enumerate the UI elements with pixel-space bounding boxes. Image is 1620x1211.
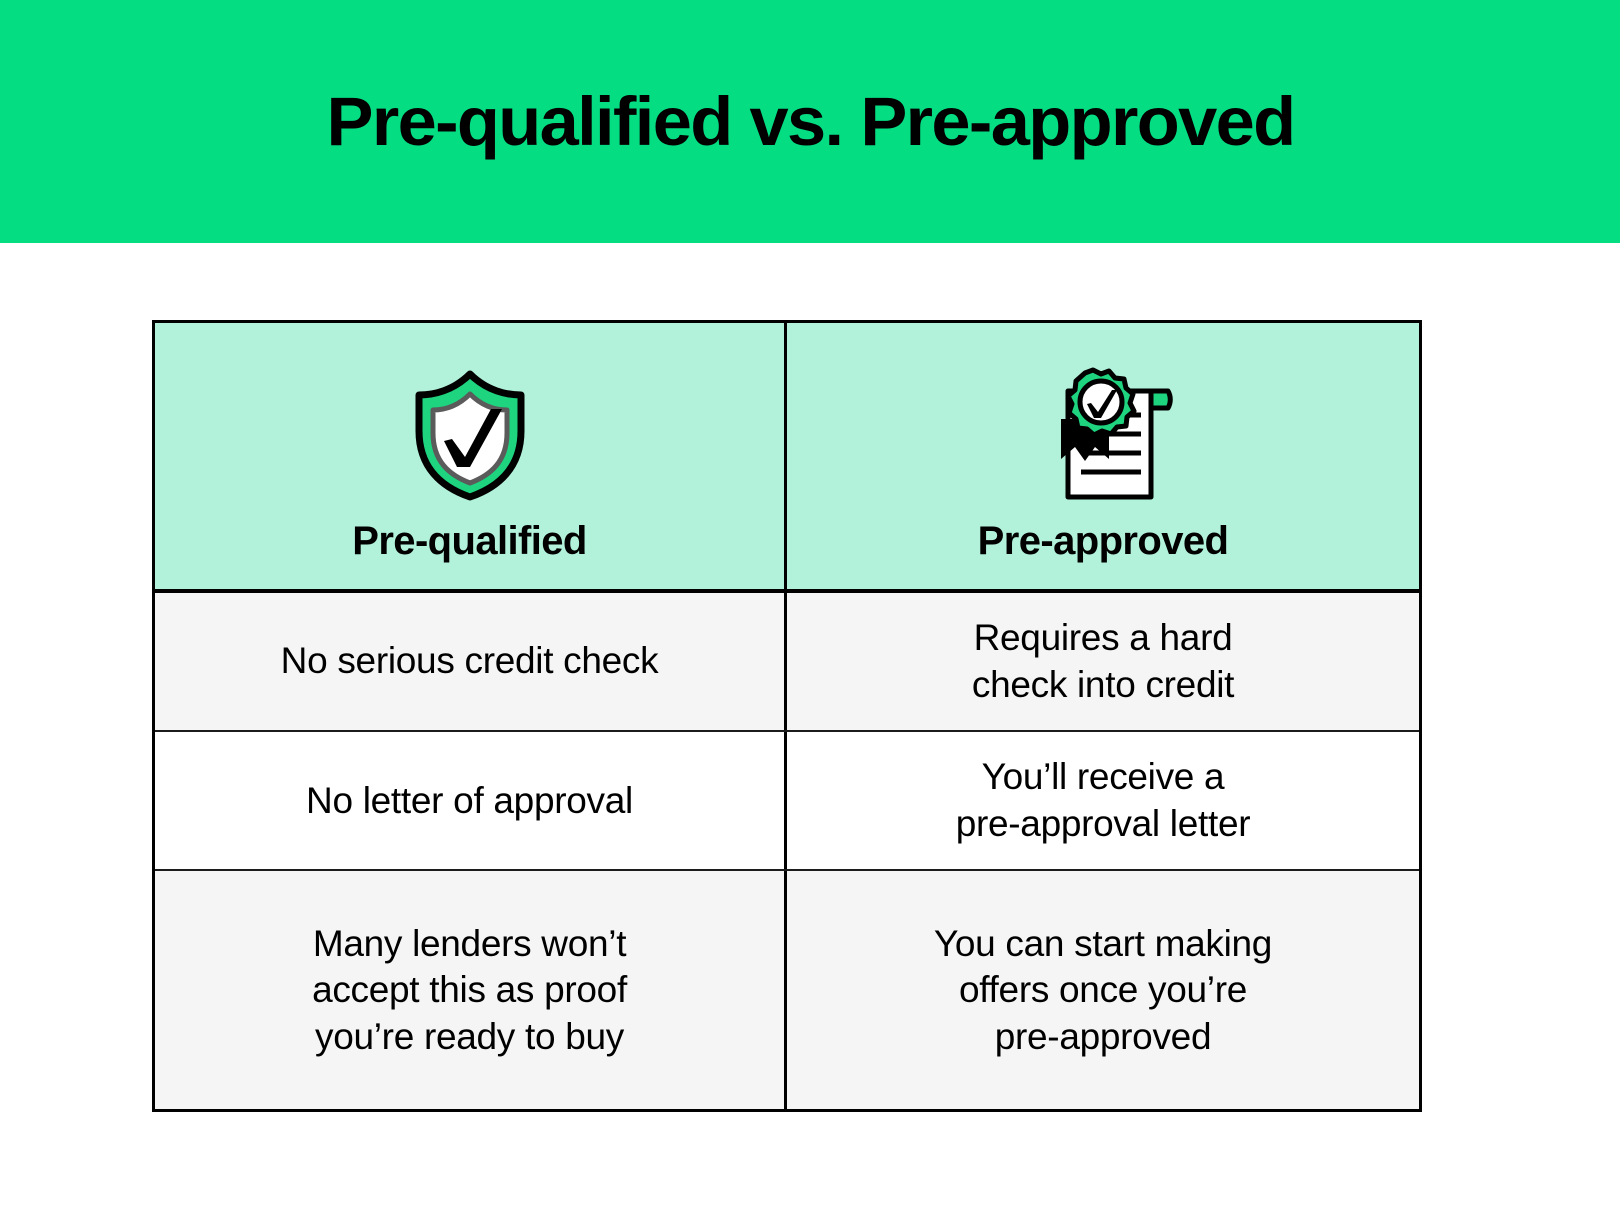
table-cell-right: You’ll receive a pre-approval letter xyxy=(787,732,1419,869)
column-header-pre-qualified: Pre-qualified xyxy=(155,323,787,589)
cell-text: You can start making offers once you’re … xyxy=(934,921,1272,1061)
header-banner: Pre-qualified vs. Pre-approved xyxy=(0,0,1620,243)
cell-text: You’ll receive a pre-approval letter xyxy=(956,754,1251,847)
column-title-text: Pre-qualified xyxy=(352,519,586,564)
column-title-text: Pre-approved xyxy=(978,519,1229,564)
infographic-page: Pre-qualified vs. Pre-approved Pre-quali… xyxy=(0,0,1620,1211)
page-title: Pre-qualified vs. Pre-approved xyxy=(326,87,1294,156)
column-header-pre-approved: Pre-approved xyxy=(787,323,1419,589)
comparison-table: Pre-qualified xyxy=(152,320,1422,1112)
table-cell-left: No letter of approval xyxy=(155,732,787,869)
certificate-seal-icon xyxy=(1023,365,1183,505)
table-cell-left: Many lenders won’t accept this as proof … xyxy=(155,871,787,1109)
cell-text: No serious credit check xyxy=(281,638,659,685)
table-header-row: Pre-qualified xyxy=(155,323,1419,593)
cell-text: Requires a hard check into credit xyxy=(972,615,1234,708)
table-row: Many lenders won’t accept this as proof … xyxy=(155,869,1419,1109)
cell-text: Many lenders won’t accept this as proof … xyxy=(312,921,627,1061)
table-cell-right: Requires a hard check into credit xyxy=(787,593,1419,730)
table-row: No serious credit check Requires a hard … xyxy=(155,593,1419,730)
cell-text: No letter of approval xyxy=(306,778,633,825)
table-row: No letter of approval You’ll receive a p… xyxy=(155,730,1419,869)
table-cell-left: No serious credit check xyxy=(155,593,787,730)
shield-check-icon xyxy=(411,365,529,505)
table-cell-right: You can start making offers once you’re … xyxy=(787,871,1419,1109)
